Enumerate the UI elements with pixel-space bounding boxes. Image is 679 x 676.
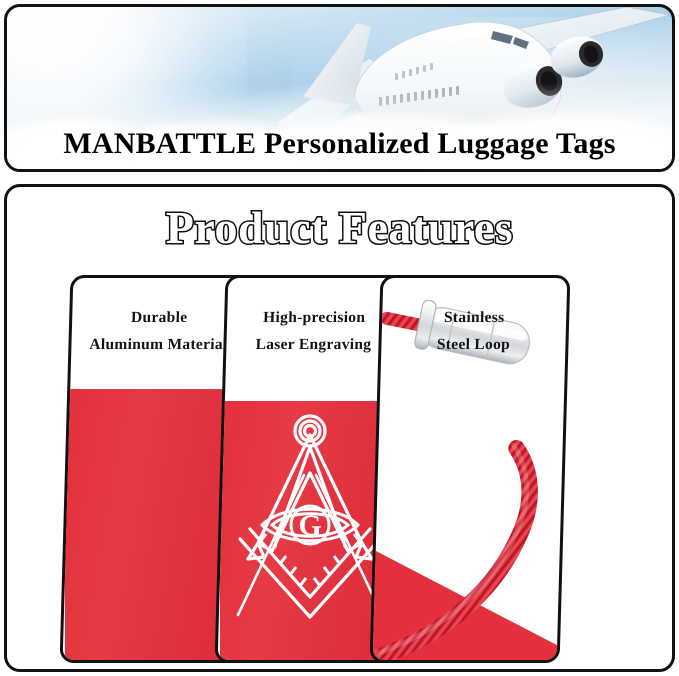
feature-2-line-2: Laser Engraving — [226, 331, 401, 358]
header-banner: MANBATTLE Personalized Luggage Tags — [4, 4, 675, 172]
infographic-root: MANBATTLE Personalized Luggage Tags Prod… — [0, 0, 679, 676]
banner-title: MANBATTLE Personalized Luggage Tags — [7, 127, 672, 161]
feature-1-line-2: Aluminum Material — [71, 331, 246, 358]
feature-card-list: Durable Aluminum Material — [7, 275, 678, 667]
feature-1-line-1: Durable — [72, 304, 247, 331]
page-title: Product Features — [7, 201, 672, 254]
feature-card-1-label: Durable Aluminum Material — [71, 304, 247, 358]
feature-card-stainless-steel-loop[interactable]: Stainless Steel Loop — [370, 275, 571, 663]
feature-3-line-2: Steel Loop — [381, 331, 566, 358]
feature-2-line-1: High-precision — [227, 304, 402, 331]
feature-card-2-label: High-precision Laser Engraving — [226, 304, 402, 358]
feature-card-3-label: Stainless Steel Loop — [381, 304, 567, 358]
emblem-letter-g: G — [298, 509, 321, 542]
features-panel: Product Features Durable Aluminum Materi… — [4, 184, 675, 672]
feature-3-line-1: Stainless — [382, 304, 567, 331]
